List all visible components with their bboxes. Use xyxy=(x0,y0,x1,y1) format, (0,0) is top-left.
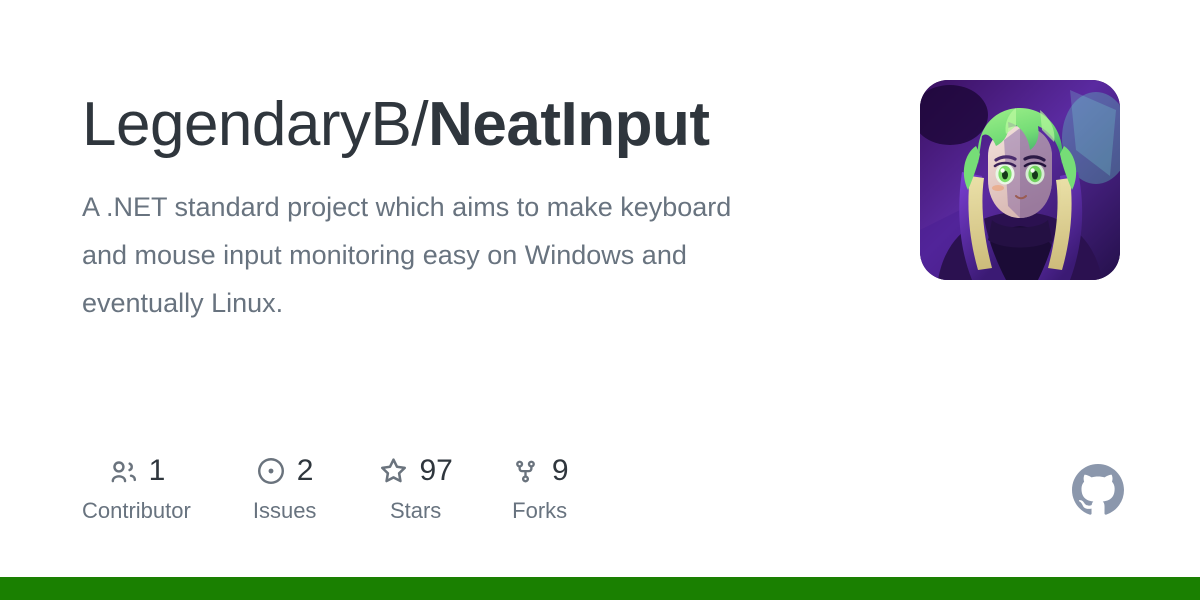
stat-contributors-value-row: 1 xyxy=(108,452,166,490)
github-octocat-icon xyxy=(1072,464,1124,516)
bottom-accent-bar xyxy=(0,577,1200,600)
repository-social-preview-card: LegendaryB/ NeatInput A .NET standard pr… xyxy=(0,0,1200,600)
stat-issues-value-row: 2 xyxy=(256,452,314,490)
stat-forks-value-row: 9 xyxy=(511,452,569,490)
stat-contributors-value: 1 xyxy=(149,456,166,486)
stat-stars: 97 Stars xyxy=(378,452,452,522)
stat-issues-value: 2 xyxy=(297,456,314,486)
repository-info: LegendaryB/ NeatInput A .NET standard pr… xyxy=(82,92,872,327)
avatar xyxy=(920,80,1120,280)
stat-contributors: 1 Contributor xyxy=(82,452,191,522)
stat-issues: 2 Issues xyxy=(253,452,317,522)
page-title: LegendaryB/ NeatInput xyxy=(82,92,872,159)
stat-forks-value: 9 xyxy=(552,456,569,486)
stat-stars-label: Stars xyxy=(390,500,441,522)
repository-stats: 1 Contributor 2 Issues xyxy=(82,452,569,522)
stat-issues-label: Issues xyxy=(253,500,317,522)
star-icon xyxy=(378,456,408,486)
stat-stars-value: 97 xyxy=(419,456,452,486)
repository-name: NeatInput xyxy=(428,90,709,159)
stat-stars-value-row: 97 xyxy=(378,452,452,490)
repository-owner: LegendaryB/ xyxy=(82,90,428,159)
repository-description: A .NET standard project which aims to ma… xyxy=(82,183,782,327)
people-icon xyxy=(108,456,138,486)
repo-forked-icon xyxy=(511,456,541,486)
stat-forks: 9 Forks xyxy=(511,452,569,522)
stat-contributors-label: Contributor xyxy=(82,500,191,522)
issue-opened-icon xyxy=(256,456,286,486)
stat-forks-label: Forks xyxy=(512,500,567,522)
